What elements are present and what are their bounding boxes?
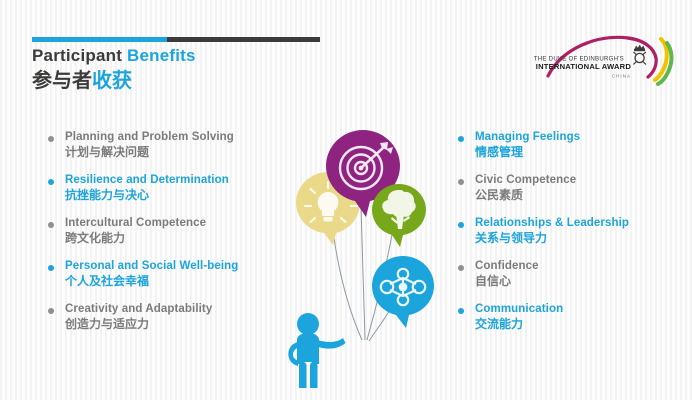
balloons-illustration [276,118,446,388]
benefit-item: Communication交流能力 [458,302,683,332]
bullet-dot-icon [48,179,54,185]
benefit-label-english: Relationships & Leadership [475,216,683,230]
balloon-blue-network [372,256,434,328]
person-figure-icon [288,313,345,388]
benefit-label-chinese: 关系与领导力 [475,231,683,246]
benefit-item: Intercultural Competence跨文化能力 [48,216,298,246]
bullet-dot-icon [48,265,54,271]
benefit-label-chinese: 个人及社会幸福 [65,274,298,289]
logo-line-2: INTERNATIONAL AWARD [536,62,632,71]
title-english-highlight: Benefits [127,46,196,65]
logo-line-3: CHINA [612,74,631,79]
benefit-label-chinese: 情感管理 [475,145,683,160]
benefit-label-chinese: 跨文化能力 [65,231,298,246]
bullet-dot-icon [48,136,54,142]
bullet-dot-icon [48,308,54,314]
benefit-item: Confidence自信心 [458,259,683,289]
title-english-plain: Participant [32,46,127,65]
benefit-item: Managing Feelings情感管理 [458,130,683,160]
header-rule-dark-segment [167,37,320,42]
benefit-label-english: Creativity and Adaptability [65,302,298,316]
title-english: Participant Benefits [32,45,196,67]
duke-of-edinburgh-award-logo: THE DUKE OF EDINBURGH'S INTERNATIONAL AW… [532,32,678,88]
benefit-label-english: Civic Competence [475,173,683,187]
bullet-dot-icon [458,265,464,271]
bullet-dot-icon [48,222,54,228]
balloon-green-tree [372,184,426,247]
benefit-label-chinese: 创造力与适应力 [65,317,298,332]
benefit-item: Resilience and Determination抗挫能力与决心 [48,173,298,203]
benefit-item: Personal and Social Well-being个人及社会幸福 [48,259,298,289]
benefits-column-left: Planning and Problem Solving计划与解决问题Resil… [48,130,298,345]
header-divider-rule [32,37,320,42]
benefit-label-chinese: 自信心 [475,274,683,289]
benefit-item: Civic Competence公民素质 [458,173,683,203]
bullet-dot-icon [458,136,464,142]
header-rule-blue-segment [32,37,167,42]
slide-canvas: Participant Benefits 参与者收获 THE DUKE OF E… [0,0,692,400]
title-chinese: 参与者收获 [32,68,196,94]
benefit-label-english: Intercultural Competence [65,216,298,230]
benefit-label-english: Personal and Social Well-being [65,259,298,273]
benefit-label-chinese: 计划与解决问题 [65,145,298,160]
bullet-dot-icon [458,222,464,228]
bullet-dot-icon [458,308,464,314]
benefits-column-right: Managing Feelings情感管理Civic Competence公民素… [458,130,683,345]
benefit-item: Planning and Problem Solving计划与解决问题 [48,130,298,160]
benefit-item: Creativity and Adaptability创造力与适应力 [48,302,298,332]
title-chinese-plain: 参与者 [32,70,92,92]
benefit-label-chinese: 抗挫能力与决心 [65,188,298,203]
benefit-item: Relationships & Leadership关系与领导力 [458,216,683,246]
benefit-label-english: Confidence [475,259,683,273]
title-chinese-highlight: 收获 [92,70,132,92]
benefit-label-english: Communication [475,302,683,316]
benefit-label-english: Resilience and Determination [65,173,298,187]
crest-emblem-icon [633,45,646,65]
benefit-label-english: Managing Feelings [475,130,683,144]
benefit-label-english: Planning and Problem Solving [65,130,298,144]
benefit-label-chinese: 公民素质 [475,188,683,203]
page-title: Participant Benefits 参与者收获 [32,45,196,94]
benefit-label-chinese: 交流能力 [475,317,683,332]
bullet-dot-icon [458,179,464,185]
